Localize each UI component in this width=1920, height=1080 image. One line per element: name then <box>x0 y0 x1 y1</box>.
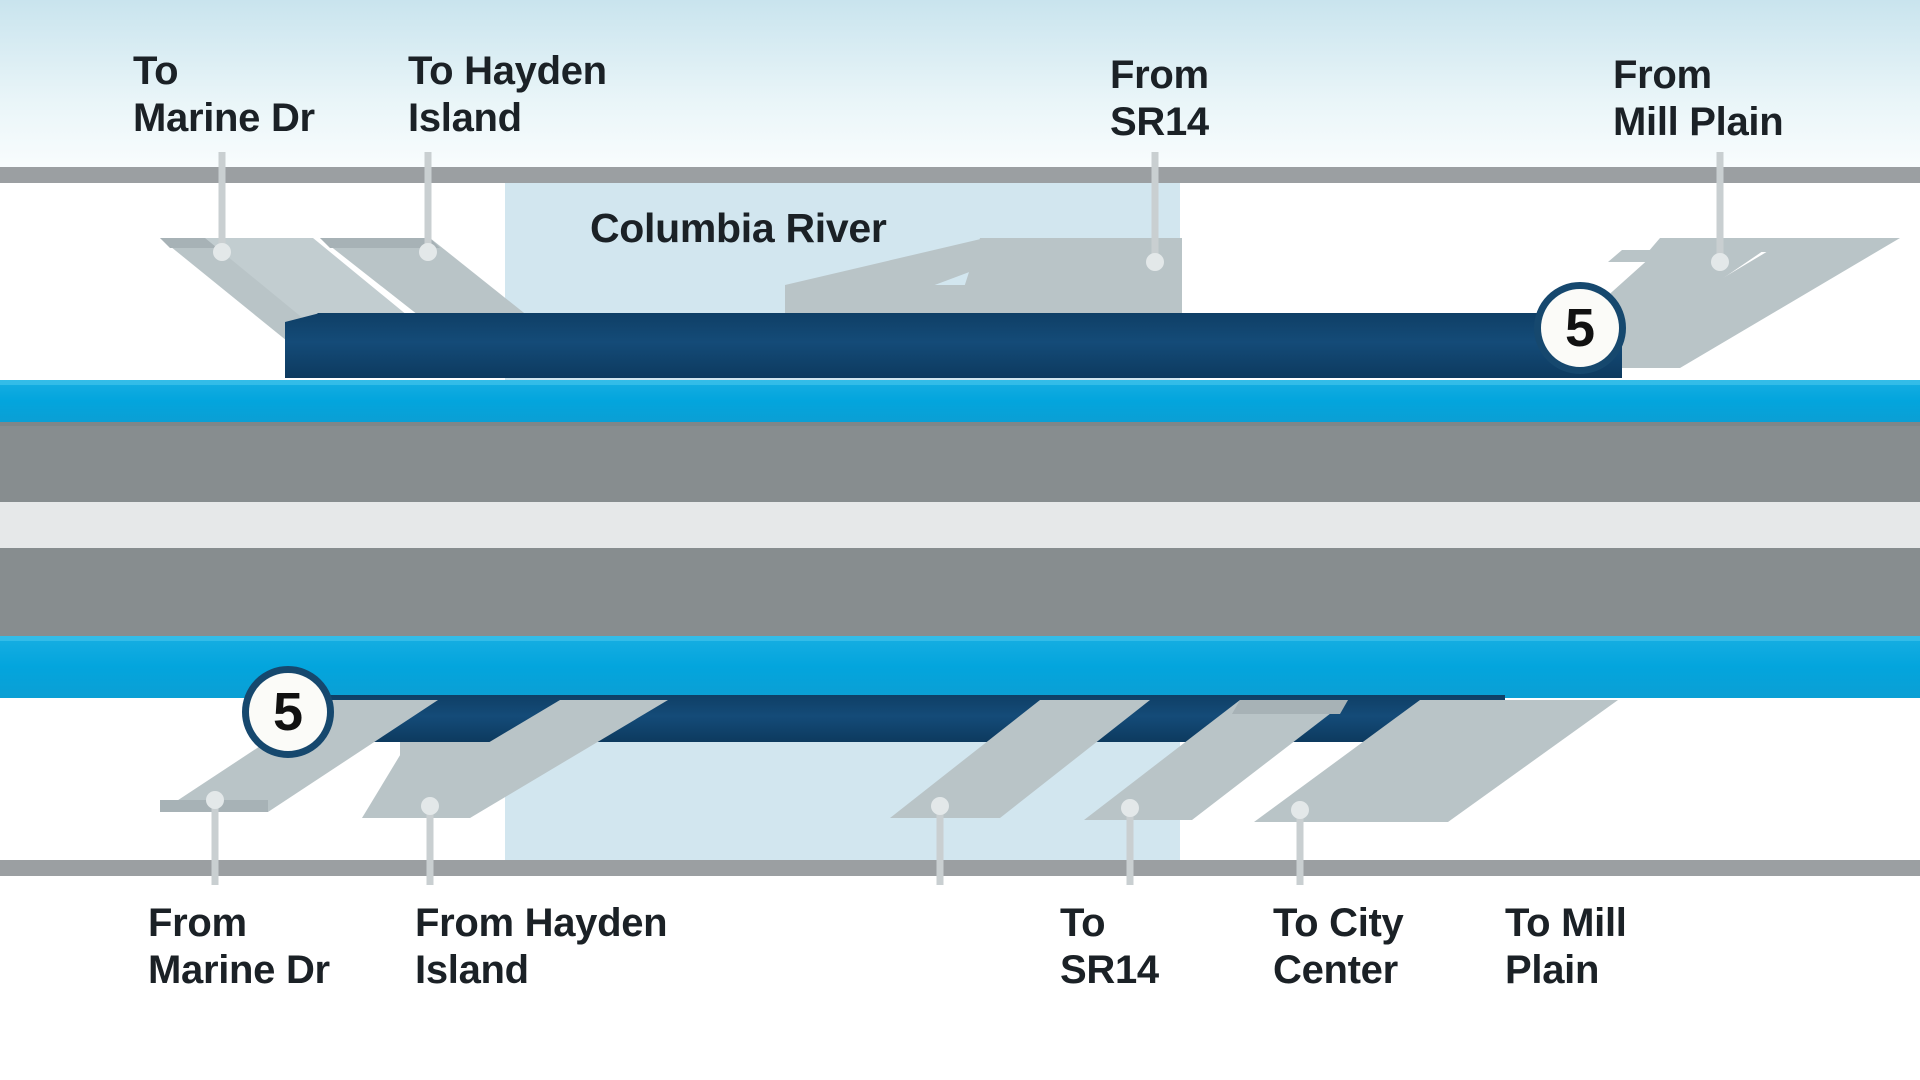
route-shield-i5-lower: 5 <box>242 666 334 758</box>
river-label: Columbia River <box>590 205 887 252</box>
label-from-hayden-island: From Hayden Island <box>415 900 667 994</box>
leader-dot-from-sr14 <box>1146 253 1164 271</box>
ramp-from-mill-plain-shoulder2 <box>1648 238 1800 252</box>
label-to-city-center: To City Center <box>1273 900 1403 994</box>
leader-dot-to-sr14 <box>931 797 949 815</box>
leader-dot-from-hayden-island <box>421 797 439 815</box>
median-center <box>0 502 1920 548</box>
bottom-boundary-rule <box>0 860 1920 876</box>
deck-northbound-navy-left-tip <box>285 313 320 378</box>
label-from-marine-dr: From Marine Dr <box>148 900 330 994</box>
label-to-sr14: To SR14 <box>1060 900 1159 994</box>
lane-cyan-lower-highlight <box>0 636 1920 641</box>
label-to-marine-dr: To Marine Dr <box>133 48 315 142</box>
lane-cyan-upper-highlight <box>0 380 1920 385</box>
ramp-to-city-center-shoulder <box>1232 700 1348 714</box>
label-from-mill-plain: From Mill Plain <box>1613 52 1783 146</box>
label-from-sr14: From SR14 <box>1110 52 1209 146</box>
top-boundary-rule <box>0 167 1920 183</box>
leader-dot-to-city-center <box>1121 799 1139 817</box>
lane-gray-upper <box>0 422 1920 502</box>
route-shield-i5-upper: 5 <box>1534 282 1626 374</box>
leader-dot-from-marine-dr <box>206 791 224 809</box>
leader-dot-to-marine-dr <box>213 243 231 261</box>
label-to-mill-plain: To Mill Plain <box>1505 900 1627 994</box>
lane-cyan-upper <box>0 380 1920 422</box>
label-to-hayden-island: To Hayden Island <box>408 48 607 142</box>
deck-northbound-navy <box>318 313 1622 378</box>
lane-gray-lower <box>0 548 1920 636</box>
lane-gray-upper-top-edge <box>0 422 1920 426</box>
ramp-from-sr14-fill <box>785 285 1182 313</box>
leader-dot-from-mill-plain <box>1711 253 1729 271</box>
leader-dot-to-hayden-island <box>419 243 437 261</box>
leader-dot-to-mill-plain <box>1291 801 1309 819</box>
